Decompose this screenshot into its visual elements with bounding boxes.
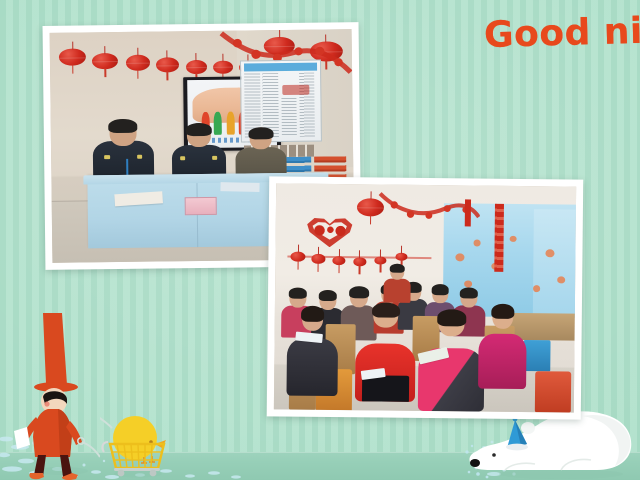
- red-lantern-icon: [156, 58, 179, 73]
- poster-red-title: [282, 85, 309, 95]
- mural-flower-icon: [545, 250, 554, 258]
- hair: [186, 123, 212, 136]
- hair: [288, 288, 307, 299]
- mural-flower-icon: [557, 277, 565, 284]
- name-card: [184, 196, 216, 214]
- heart-chinese-characters: [312, 222, 347, 238]
- page-title: Good night: [484, 9, 640, 56]
- black-trousers: [362, 375, 409, 401]
- mural-flower-icon: [455, 253, 464, 261]
- red-lantern-icon: [125, 55, 149, 71]
- hair: [372, 302, 400, 318]
- photo-image-audience: [274, 183, 576, 412]
- mural-flower-icon: [474, 240, 481, 246]
- hanging-red-string: [465, 199, 471, 226]
- shoulder-badge: [212, 156, 217, 159]
- hanging-red-ornament: [494, 204, 504, 272]
- mural-flower-icon: [533, 286, 540, 292]
- hair: [437, 309, 466, 326]
- shoulder-badge: [181, 157, 186, 160]
- audience-member-magenta-coat: [478, 303, 527, 389]
- hair: [318, 290, 337, 301]
- shoulder-badge: [104, 155, 109, 159]
- red-lantern-icon: [290, 251, 305, 261]
- hair: [349, 286, 369, 298]
- photo-card-audience[interactable]: [267, 176, 583, 419]
- red-lantern-icon: [311, 254, 325, 264]
- audience-member: [383, 264, 410, 303]
- red-lantern-icon: [395, 252, 407, 260]
- audience-member-dark-coat: [286, 306, 338, 397]
- hair: [248, 127, 273, 139]
- red-plastic-stool: [535, 371, 571, 412]
- greeting-card-canvas: Good night: [0, 0, 640, 480]
- hair: [432, 285, 449, 296]
- magenta-coat: [478, 334, 527, 389]
- shoulder-badge: [137, 155, 142, 159]
- illustration-man-with-hat: [10, 305, 100, 480]
- blue-mural-wall-right: [533, 209, 576, 318]
- hair: [389, 264, 404, 273]
- audience-member-red-jacket: [355, 302, 416, 402]
- black-puffer-coat: [286, 338, 338, 396]
- heart-emblem-logo: [306, 215, 354, 247]
- hair: [491, 303, 514, 319]
- blue-plastic-stool: [523, 340, 550, 372]
- paper-figure-orange: [226, 112, 234, 135]
- red-lantern-icon: [186, 60, 207, 74]
- leaflets-on-table: [221, 182, 260, 192]
- hair: [459, 287, 478, 298]
- coat: [383, 278, 410, 302]
- poster-header-band: [244, 62, 318, 71]
- tablecloth-fold: [196, 183, 198, 247]
- mural-flower-icon: [510, 236, 517, 242]
- poster-text-column: [299, 73, 315, 138]
- illustration-bird-in-basket: [100, 410, 175, 480]
- red-lantern-icon: [92, 53, 118, 69]
- red-lantern-icon: [353, 258, 366, 267]
- hair: [109, 119, 138, 133]
- hair: [301, 306, 325, 323]
